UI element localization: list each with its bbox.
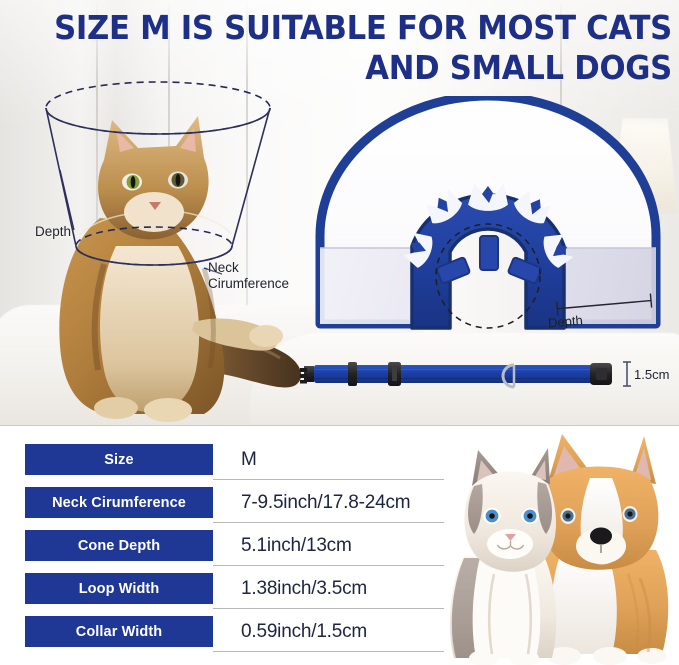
spec-value: M xyxy=(228,440,468,479)
headline-line-2: AND SMALL DOGS xyxy=(51,48,672,88)
table-row: Size M xyxy=(25,440,453,483)
table-row: Loop Width 1.38inch/3.5cm xyxy=(25,569,453,612)
cone-depth-label: Depth xyxy=(547,313,583,331)
cat-neck-circumference-label: Neck Cirumference xyxy=(208,260,289,292)
row-underline xyxy=(213,479,453,480)
cat-photo: Depth Neck Cirumference xyxy=(8,78,308,423)
spec-label: Neck Cirumference xyxy=(25,487,213,518)
spec-label: Cone Depth xyxy=(25,530,213,561)
product-infographic: SIZE M IS SUITABLE FOR MOST CATS AND SMA… xyxy=(0,0,679,665)
page-title: SIZE M IS SUITABLE FOR MOST CATS AND SMA… xyxy=(51,8,672,88)
spec-label: Collar Width xyxy=(25,616,213,647)
cat-and-dog-illustration xyxy=(444,428,679,665)
pets-photo xyxy=(444,428,679,665)
spec-label: Loop Width xyxy=(25,573,213,604)
cone-measurement-wireframe xyxy=(8,78,308,423)
row-underline xyxy=(213,522,453,523)
cone-product-photo: Neck Cirumference xyxy=(312,96,664,336)
collar-illustration xyxy=(300,352,620,396)
table-row: Collar Width 0.59inch/1.5cm xyxy=(25,612,453,655)
spec-value: 5.1inch/13cm xyxy=(228,526,468,565)
collar-width-bracket xyxy=(622,359,632,389)
spec-value: 1.38inch/3.5cm xyxy=(228,569,468,608)
row-underline xyxy=(213,565,453,566)
headline-line-1: SIZE M IS SUITABLE FOR MOST CATS xyxy=(54,8,672,47)
table-row: Cone Depth 5.1inch/13cm xyxy=(25,526,453,569)
row-underline xyxy=(213,608,453,609)
spec-label: Size xyxy=(25,444,213,475)
cone-illustration xyxy=(312,96,664,336)
spec-value: 7-9.5inch/17.8-24cm xyxy=(228,483,468,522)
row-underline xyxy=(213,651,453,652)
spec-value: 0.59inch/1.5cm xyxy=(228,612,468,651)
collar-width-label: 1.5cm xyxy=(634,367,669,382)
collar-strap-photo xyxy=(300,352,620,396)
cat-depth-label: Depth xyxy=(35,224,71,240)
table-row: Neck Cirumference 7-9.5inch/17.8-24cm xyxy=(25,483,453,526)
